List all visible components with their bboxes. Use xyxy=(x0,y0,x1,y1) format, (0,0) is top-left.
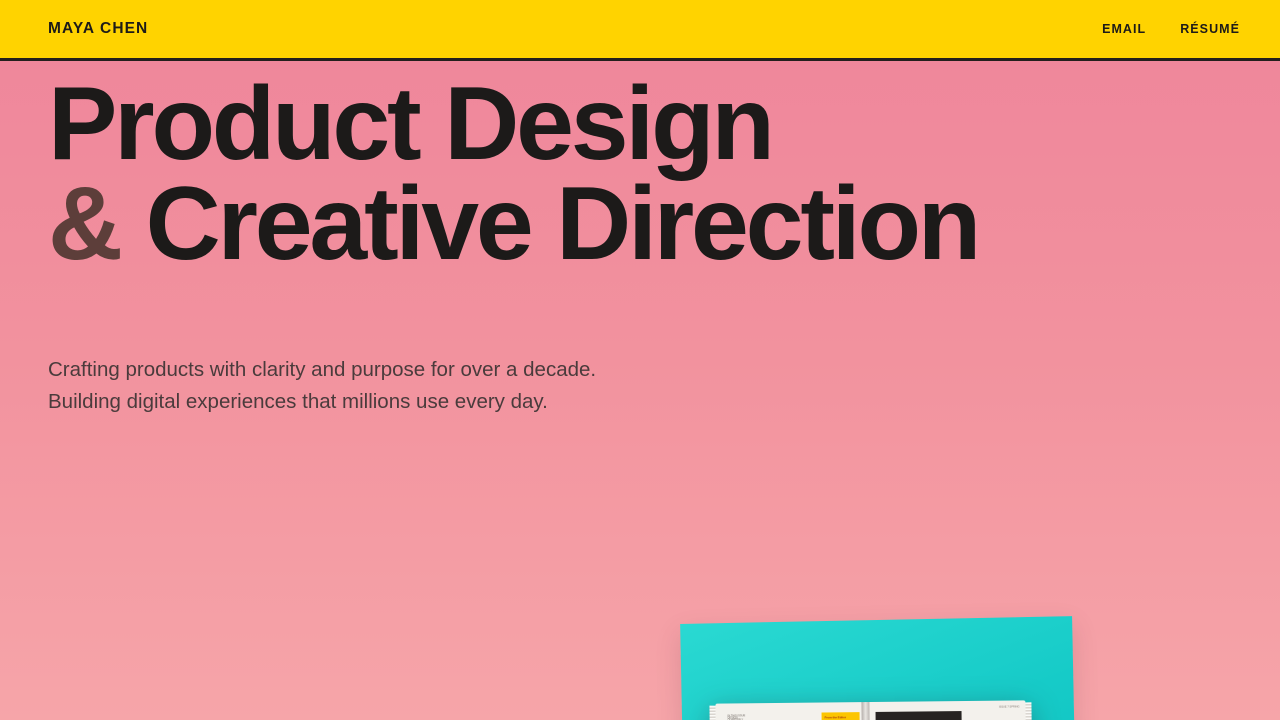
subtitle-line-1: Crafting products with clarity and purpo… xyxy=(48,354,596,386)
magazine-page-left: IN THIS ISSUE DESIGN QUARTERLY The ZIN F… xyxy=(715,702,868,720)
magazine-kicker: IN THIS ISSUE DESIGN QUARTERLY xyxy=(728,715,754,720)
headline-line-2: & Creative Direction xyxy=(48,175,978,275)
magazine-page-right: ISSUE 7 SPRING P xyxy=(867,700,1026,720)
nav-link-email[interactable]: EMAIL xyxy=(1102,22,1146,36)
subtitle-line-2: Building digital experiences that millio… xyxy=(48,386,596,418)
yellow-column-headline: From the Editor xyxy=(825,716,857,719)
brand-name[interactable]: MAYA CHEN xyxy=(48,20,148,38)
site-header: MAYA CHEN EMAIL RÉSUMÉ xyxy=(0,0,1280,61)
headline-line-1: Product Design xyxy=(48,75,978,175)
magazine-mockup: IN THIS ISSUE DESIGN QUARTERLY The ZIN F… xyxy=(660,598,1140,720)
headline-ampersand: & xyxy=(48,166,120,282)
nav-link-resume[interactable]: RÉSUMÉ xyxy=(1180,22,1240,36)
hero-headline: Product Design & Creative Direction xyxy=(48,75,978,275)
main-navigation: EMAIL RÉSUMÉ xyxy=(1102,22,1240,36)
page-edge-right xyxy=(1024,702,1032,720)
magazine-folio: ISSUE 7 SPRING xyxy=(999,706,1020,709)
magazine-dark-panel xyxy=(876,711,963,720)
magazine-spine xyxy=(861,702,870,720)
headline-line-2-text: Creative Direction xyxy=(146,166,979,282)
hero-subtitle: Crafting products with clarity and purpo… xyxy=(48,354,596,418)
open-magazine: IN THIS ISSUE DESIGN QUARTERLY The ZIN F… xyxy=(715,700,1026,720)
magazine-yellow-column: From the Editor A new season of making t… xyxy=(822,712,861,720)
